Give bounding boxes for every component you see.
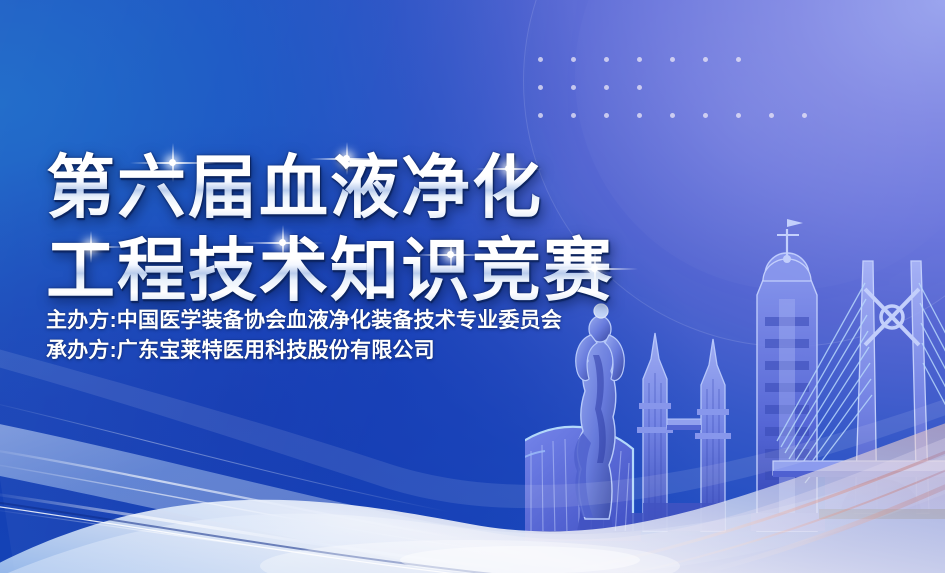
grid-dot xyxy=(703,57,708,62)
title-line-2: 工程技术知识竞赛 xyxy=(46,233,666,309)
dot-grid-pattern xyxy=(538,57,838,147)
grid-dot xyxy=(637,57,642,62)
grid-dot xyxy=(604,113,609,118)
grid-dot xyxy=(736,57,741,62)
grid-dot xyxy=(736,113,741,118)
title-line-1: 第六届血液净化 xyxy=(46,150,666,226)
organizer-line: 主办方:中国医学装备协会血液净化装备技术专业委员会 xyxy=(46,306,562,336)
grid-dot xyxy=(769,113,774,118)
grid-dot xyxy=(703,113,708,118)
grid-dot xyxy=(670,57,675,62)
grid-dot xyxy=(637,85,642,90)
title-block: 第六届血液净化 工程技术知识竞赛 xyxy=(46,150,666,309)
grid-dot xyxy=(538,57,543,62)
grid-dot xyxy=(538,113,543,118)
event-poster-banner: 第六届血液净化 工程技术知识竞赛 主办方:中国医学装备协会血液净化装备技术专业委… xyxy=(0,0,945,573)
grid-dot xyxy=(571,85,576,90)
grid-dot xyxy=(571,57,576,62)
host-line: 承办方:广东宝莱特医用科技股份有限公司 xyxy=(46,336,562,366)
grid-dot xyxy=(604,85,609,90)
grid-dot xyxy=(802,113,807,118)
grid-dot xyxy=(670,113,675,118)
grid-dot xyxy=(604,57,609,62)
grid-dot xyxy=(571,113,576,118)
grid-dot xyxy=(538,85,543,90)
subtitle-block: 主办方:中国医学装备协会血液净化装备技术专业委员会 承办方:广东宝莱特医用科技股… xyxy=(46,306,562,366)
grid-dot xyxy=(637,113,642,118)
